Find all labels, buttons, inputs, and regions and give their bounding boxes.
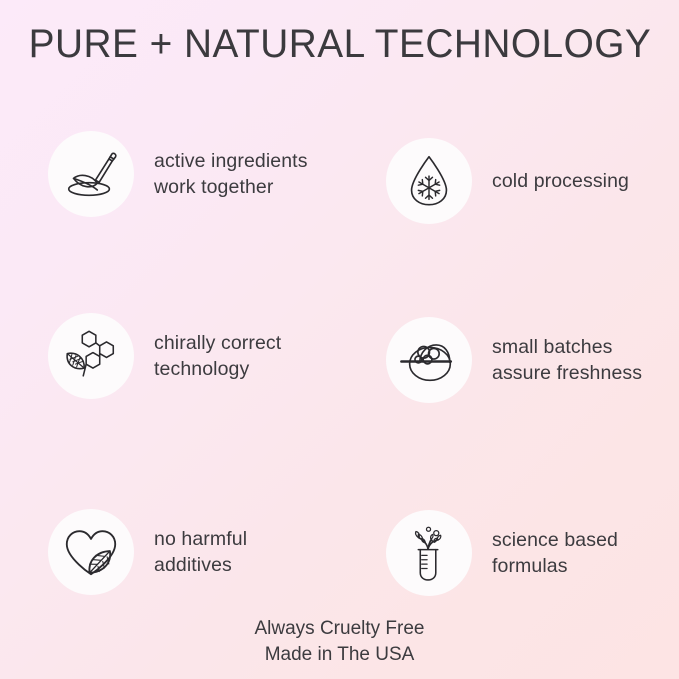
feature-item-small-batches: small batches assure freshness <box>386 317 679 403</box>
bowl-whisk-icon <box>386 317 472 403</box>
feature-item-active-ingredients: active ingredients work together <box>48 131 378 217</box>
feature-item-cold-processing: cold processing <box>386 138 679 224</box>
feature-label: small batches assure freshness <box>492 334 642 386</box>
heart-leaf-icon <box>48 509 134 595</box>
droplet-snowflake-icon <box>386 138 472 224</box>
footer-text: Always Cruelty Free Made in The USA <box>0 616 679 668</box>
test-tube-plant-icon <box>386 510 472 596</box>
feature-label: science based formulas <box>492 527 618 579</box>
feature-item-chirally-correct: chirally correct technology <box>48 313 378 399</box>
feature-item-no-harmful-additives: no harmful additives <box>48 509 378 595</box>
molecule-leaf-icon <box>48 313 134 399</box>
feature-item-science-based: science based formulas <box>386 510 679 596</box>
feature-label: active ingredients work together <box>154 148 308 200</box>
feature-label: cold processing <box>492 168 629 194</box>
dropper-leaf-icon <box>48 131 134 217</box>
feature-label: no harmful additives <box>154 526 247 578</box>
page-title: PURE + NATURAL TECHNOLOGY <box>28 22 651 67</box>
infographic-panel: PURE + NATURAL TECHNOLOGY <box>0 0 679 679</box>
feature-label: chirally correct technology <box>154 330 281 382</box>
features-grid: active ingredients work together <box>0 131 679 601</box>
page-title-container: PURE + NATURAL TECHNOLOGY <box>0 22 679 67</box>
